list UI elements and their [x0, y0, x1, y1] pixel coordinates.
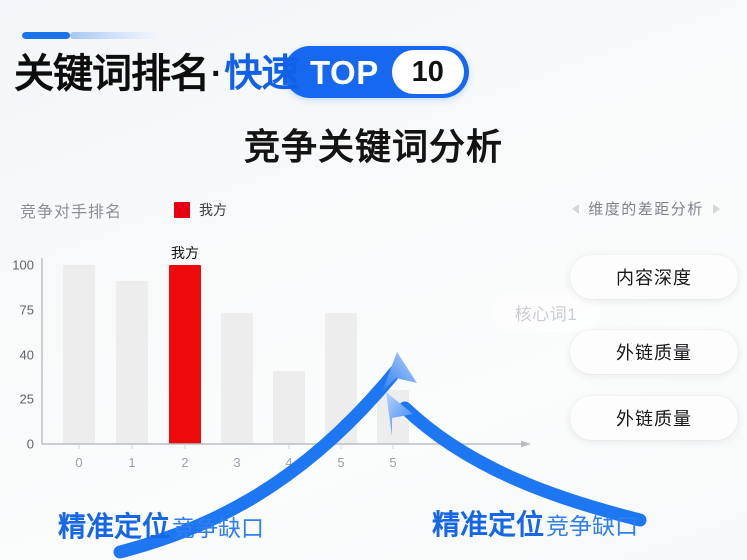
- progress-accent-filled: [22, 32, 70, 39]
- bar: [116, 281, 148, 444]
- headline-main: 关键词排名: [14, 54, 209, 94]
- bar-highlighted: [169, 265, 201, 444]
- progress-accent-bar: [22, 32, 162, 39]
- dimension-card-label: 内容深度: [616, 264, 692, 290]
- x-axis-tick-label: 0: [75, 455, 82, 470]
- page-headline: 关键词排名 · 快速: [14, 46, 298, 102]
- chart-title: 竞争对手排名: [20, 198, 122, 222]
- chart-legend: 我方: [174, 200, 227, 220]
- dimension-card-content-depth[interactable]: 内容深度: [570, 255, 738, 299]
- growth-arrow-left-head-icon: [382, 352, 417, 392]
- bar: [377, 390, 409, 444]
- dimension-card-backlink-quality-1[interactable]: 外链质量: [570, 330, 738, 374]
- x-axis-tick-label: 2: [181, 455, 188, 470]
- progress-accent-track: [70, 32, 162, 39]
- side-panel-heading-label: 维度的差距分析: [588, 198, 704, 219]
- y-axis-tick-label: 40: [0, 347, 34, 362]
- badge-label: TOP: [310, 56, 379, 89]
- x-axis-tick-label: 5: [337, 455, 344, 470]
- y-axis-tick-label: 100: [0, 258, 34, 273]
- page-subtitle: 竞争关键词分析: [0, 118, 747, 170]
- poster-canvas: 关键词排名 · 快速 TOP 10 竞争关键词分析 竞争对手排名 我方 维度的差…: [0, 0, 747, 560]
- headline-separator: ·: [209, 57, 224, 91]
- side-panel-heading: 维度的差距分析: [548, 198, 744, 219]
- dimension-card-label: 外链质量: [616, 339, 692, 365]
- ghost-keyword-pill: 核心词1: [492, 292, 600, 332]
- bar: [325, 313, 357, 444]
- top-rank-badge: TOP 10: [284, 46, 469, 98]
- caption-right-strong: 精准定位: [432, 503, 544, 543]
- caption-right: 精准定位 竞争缺口: [432, 503, 638, 543]
- x-axis-tick-label: 1: [128, 455, 135, 470]
- x-axis-tick-label: 5: [389, 455, 396, 470]
- chevron-left-icon: [572, 204, 579, 214]
- y-axis-tick-label: 25: [0, 392, 34, 407]
- y-axis-tick-label: 0: [0, 437, 34, 452]
- highlight-bar-label: 我方: [171, 243, 199, 263]
- legend-swatch-icon: [174, 202, 190, 218]
- x-axis-tick-label: 4: [285, 455, 292, 470]
- caption-right-light: 竞争缺口: [546, 507, 638, 541]
- badge-number: 10: [392, 50, 464, 94]
- bar: [63, 265, 95, 444]
- headline-accent: 快速: [224, 55, 298, 93]
- chevron-right-icon: [713, 204, 720, 214]
- bar: [221, 313, 253, 444]
- dimension-card-label: 外链质量: [616, 405, 692, 431]
- caption-left: 精准定位 竞争缺口: [58, 505, 264, 545]
- dimension-card-backlink-quality-2[interactable]: 外链质量: [570, 396, 738, 440]
- bar: [273, 371, 305, 444]
- y-axis-tick-label: 75: [0, 302, 34, 317]
- caption-left-strong: 精准定位: [58, 505, 170, 545]
- legend-label: 我方: [199, 200, 227, 220]
- x-axis-tick-label: 3: [233, 455, 240, 470]
- caption-left-light: 竞争缺口: [172, 509, 264, 543]
- x-axis-arrow-icon: [521, 441, 531, 448]
